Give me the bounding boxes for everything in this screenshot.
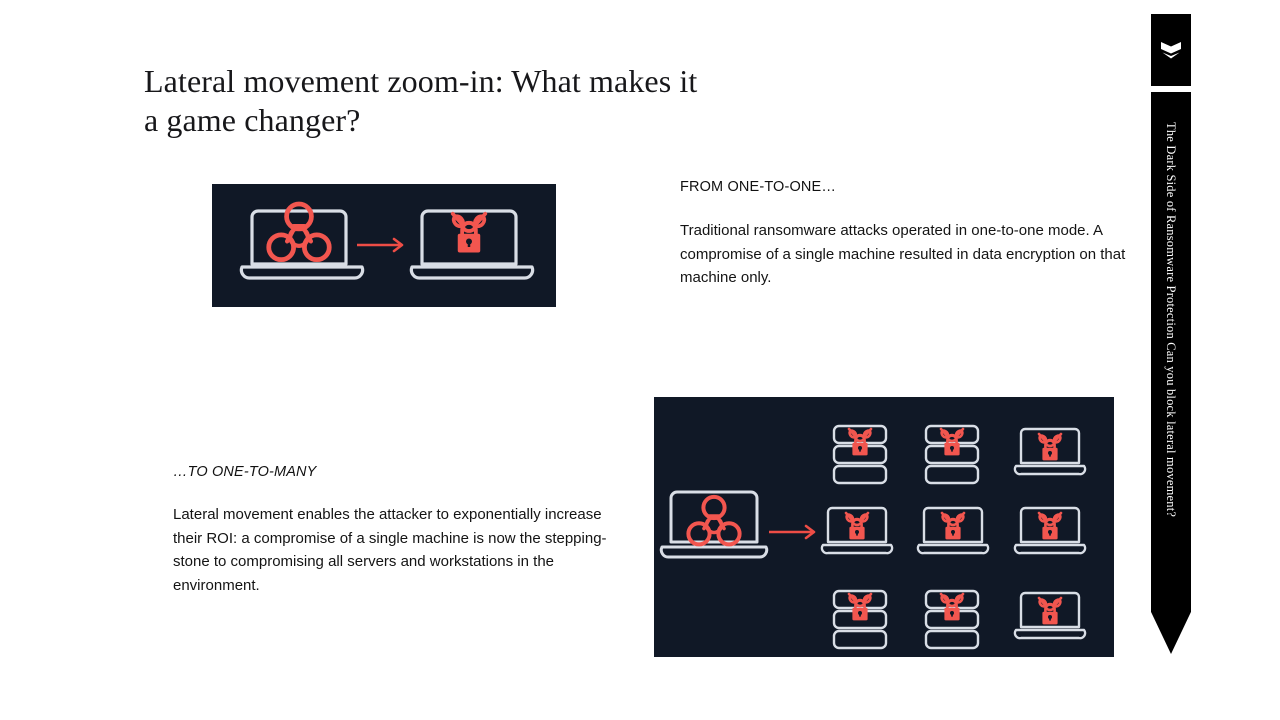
ribbon-vertical-title: The Dark Side of Ransomware Protection C… [1151,122,1191,517]
one-to-one-illustration [212,184,556,307]
one-to-many-kicker: …TO ONE-TO-MANY [173,462,623,482]
one-to-one-text-block: FROM ONE-TO-ONE… Traditional ransomware … [680,177,1142,290]
ribbon-logo-block [1151,14,1191,86]
one-to-many-illustration [654,397,1114,657]
one-to-many-paragraph: Lateral movement enables the attacker to… [173,503,623,597]
page-title: Lateral movement zoom-in: What makes it … [144,62,704,140]
one-to-one-kicker: FROM ONE-TO-ONE… [680,177,1142,197]
one-to-many-text-block: …TO ONE-TO-MANY Lateral movement enables… [173,462,623,597]
ribbon-title-block[interactable]: The Dark Side of Ransomware Protection C… [1151,92,1191,654]
one-to-one-paragraph: Traditional ransomware attacks operated … [680,219,1142,290]
book-chevron-logo-icon [1158,37,1184,63]
